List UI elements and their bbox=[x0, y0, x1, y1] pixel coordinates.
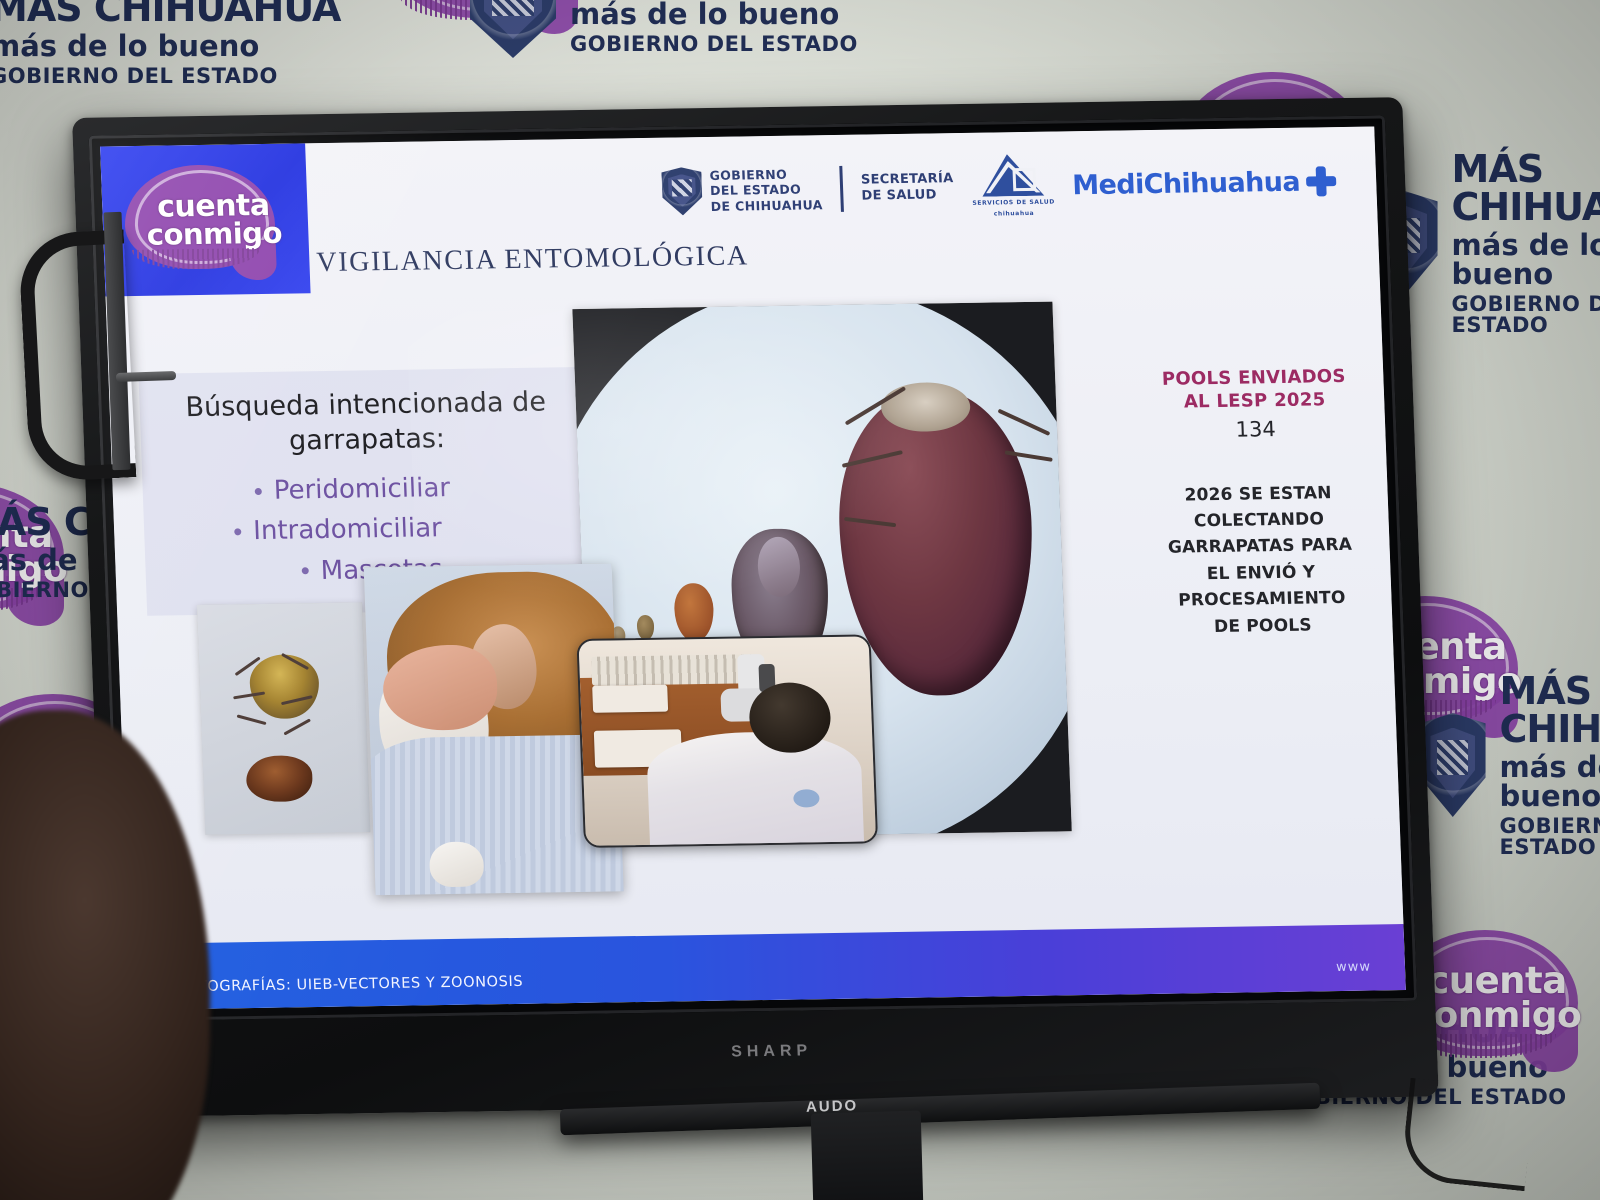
pools-headline: POOLS ENVIADOS AL LESP 2025 bbox=[1146, 365, 1363, 415]
search-heading: Búsqueda intencionada de garrapatas: bbox=[155, 385, 578, 461]
medichihuahua-wordmark: MediChihuahua bbox=[1072, 166, 1301, 201]
gobierno-line1: GOBIERNO bbox=[709, 166, 822, 183]
slide-title: VIGILANCIA ENTOMOLÓGICA bbox=[316, 240, 749, 279]
pools-value: 134 bbox=[1148, 415, 1364, 442]
secretaria-salud-logo: SECRETARÍA DE SALUD bbox=[861, 172, 955, 205]
footer-url: www bbox=[1336, 960, 1371, 976]
gobierno-line3: DE CHIHUAHUA bbox=[710, 197, 823, 214]
pools-note-line: COLECTANDO bbox=[1151, 506, 1367, 536]
sharp-display-monitor: cuenta conmigo VIGILANCIA ENTOMOLÓGICA G… bbox=[72, 97, 1439, 1117]
servicios-salud-logo: SERVICIOS DE SALUD chihuahua bbox=[971, 154, 1056, 219]
gobierno-logo: GOBIERNO DEL ESTADO DE CHIHUAHUA bbox=[661, 165, 823, 215]
cuenta-conmigo-logo: cuenta conmigo bbox=[123, 163, 305, 286]
tick-specimen-card-photo bbox=[197, 602, 370, 834]
pools-note-line: 2026 SE ESTAN bbox=[1150, 479, 1366, 509]
search-heading-line2: garrapatas: bbox=[156, 420, 577, 461]
pools-note: 2026 SE ESTAN COLECTANDO GARRAPATAS PARA… bbox=[1150, 479, 1371, 640]
ssa-line2: chihuahua bbox=[994, 209, 1035, 219]
photo-scene: MÁS CHIHUAHUAmás de lo buenoGOBIERNO DEL… bbox=[0, 0, 1600, 1200]
ssa-line1: SERVICIOS DE SALUD bbox=[972, 198, 1055, 208]
bullet-dot-icon bbox=[302, 568, 309, 575]
logo-word-conmigo: conmigo bbox=[125, 219, 304, 248]
search-heading-line1: Búsqueda intencionada de bbox=[155, 385, 576, 426]
monitor-brand-label: SHARP bbox=[731, 1042, 813, 1061]
photo-credit: FOTOGRAFÍAS: UIEB-VECTORES Y ZOONOSIS bbox=[177, 974, 524, 995]
bullet-label: Intradomiciliar bbox=[253, 509, 443, 552]
pools-headline-line1: POOLS ENVIADOS bbox=[1146, 365, 1362, 392]
state-shield-icon bbox=[661, 167, 703, 216]
lab-technician-microscope-photo bbox=[576, 634, 878, 847]
logo-divider bbox=[839, 166, 844, 212]
organization-logo-strip: GOBIERNO DEL ESTADO DE CHIHUAHUA SECRETA… bbox=[661, 149, 1337, 224]
monitor-cart-neck bbox=[811, 1110, 924, 1200]
medichihuahua-logo: MediChihuahua bbox=[1072, 166, 1337, 201]
pools-note-line: DE POOLS bbox=[1155, 611, 1371, 641]
cart-brand-label: AUDO bbox=[806, 1097, 859, 1116]
presentation-slide: cuenta conmigo VIGILANCIA ENTOMOLÓGICA G… bbox=[100, 127, 1406, 1010]
list-item: Intradomiciliar bbox=[160, 506, 582, 553]
monitor-screen[interactable]: cuenta conmigo VIGILANCIA ENTOMOLÓGICA G… bbox=[100, 127, 1406, 1010]
secretaria-line1: SECRETARÍA bbox=[861, 172, 954, 189]
medical-cross-icon bbox=[1305, 166, 1336, 196]
bullet-label: Peridomiciliar bbox=[273, 468, 451, 511]
gobierno-logo-text: GOBIERNO DEL ESTADO DE CHIHUAHUA bbox=[709, 166, 823, 215]
bullet-dot-icon bbox=[255, 488, 262, 495]
ssa-triangle-logo-icon bbox=[981, 154, 1045, 197]
secretaria-line2: DE SALUD bbox=[861, 187, 954, 204]
pools-note-line: GARRAPATAS PARA bbox=[1152, 532, 1368, 562]
gobierno-line2: DEL ESTADO bbox=[710, 181, 823, 198]
right-stat-panel: POOLS ENVIADOS AL LESP 2025 134 2026 SE … bbox=[1146, 365, 1371, 641]
bullet-dot-icon bbox=[234, 528, 241, 535]
pools-note-line: PROCESAMIENTO bbox=[1154, 585, 1370, 615]
pools-note-line: EL ENVIÓ Y bbox=[1153, 558, 1369, 588]
pools-headline-line2: AL LESP 2025 bbox=[1147, 388, 1363, 415]
list-item: Peridomiciliar bbox=[158, 466, 580, 513]
